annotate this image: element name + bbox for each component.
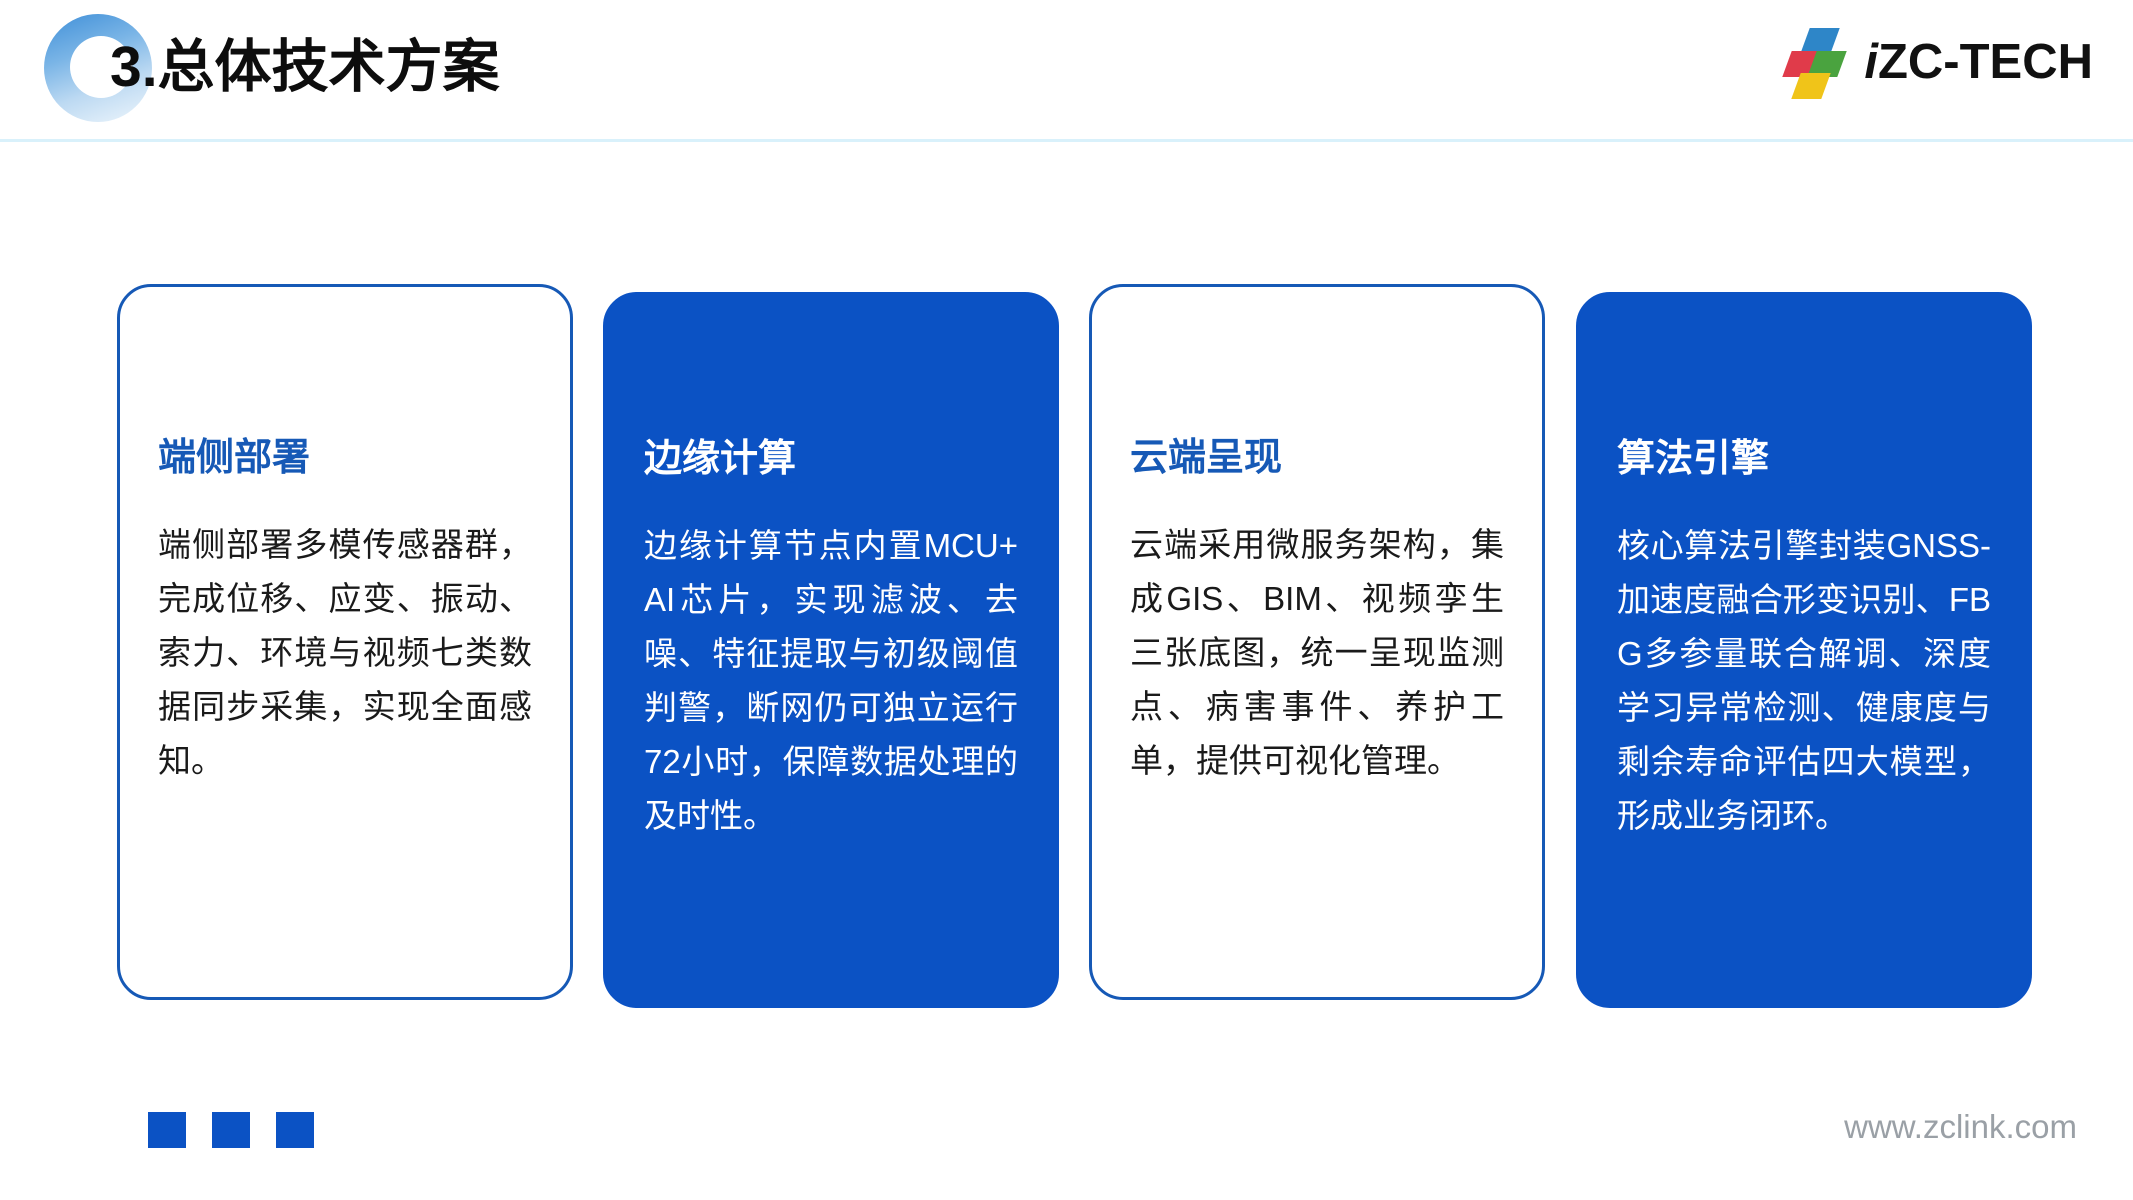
card-title: 云端呈现	[1130, 434, 1504, 482]
card-body: 边缘计算节点内置MCU+AI芯片，实现滤波、去噪、特征提取与初级阈值判警，断网仍…	[644, 519, 1018, 843]
card-title: 边缘计算	[644, 435, 1018, 483]
card-body: 端侧部署多模传感器群，完成位移、应变、振动、索力、环境与视频七类数据同步采集，实…	[158, 518, 532, 788]
card-body: 核心算法引擎封装GNSS-加速度融合形变识别、FBG多参量联合解调、深度学习异常…	[1617, 519, 1991, 843]
footer-website-url: www.zclink.com	[1844, 1108, 2077, 1146]
card-edge-computing[interactable]: 边缘计算 边缘计算节点内置MCU+AI芯片，实现滤波、去噪、特征提取与初级阈值判…	[603, 292, 1059, 1008]
footer-dots-decoration	[148, 1112, 314, 1148]
card-body: 云端采用微服务架构，集成GIS、BIM、视频孪生三张底图，统一呈现监测点、病害事…	[1130, 518, 1504, 788]
card-cloud-presentation[interactable]: 云端呈现 云端采用微服务架构，集成GIS、BIM、视频孪生三张底图，统一呈现监测…	[1089, 284, 1545, 1000]
footer-dot-2	[212, 1112, 250, 1148]
card-algorithm-engine[interactable]: 算法引擎 核心算法引擎封装GNSS-加速度融合形变识别、FBG多参量联合解调、深…	[1576, 292, 2032, 1008]
card-title: 算法引擎	[1617, 435, 1991, 483]
card-title: 端侧部署	[158, 434, 532, 482]
footer-dot-3	[276, 1112, 314, 1148]
footer-dot-1	[148, 1112, 186, 1148]
card-end-side-deployment[interactable]: 端侧部署 端侧部署多模传感器群，完成位移、应变、振动、索力、环境与视频七类数据同…	[117, 284, 573, 1000]
solution-card-row: 端侧部署 端侧部署多模传感器群，完成位移、应变、振动、索力、环境与视频七类数据同…	[0, 0, 2133, 1200]
